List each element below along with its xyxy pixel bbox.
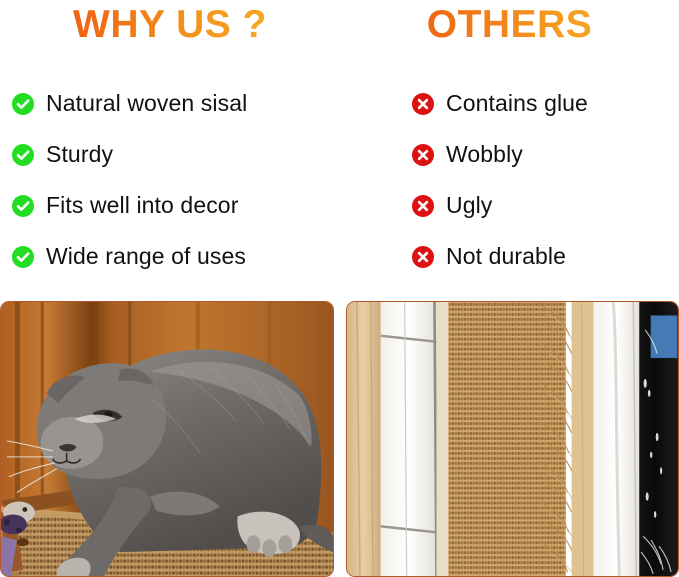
list-item: Contains glue — [412, 78, 679, 129]
cons-list: Contains glue Wobbly Ugly Not durable — [412, 78, 679, 282]
photo-row — [0, 301, 679, 577]
list-item: Natural woven sisal — [12, 78, 342, 129]
list-item-label: Contains glue — [446, 92, 588, 115]
x-circle-icon — [412, 246, 434, 268]
cat-on-sisal-mat-photo — [0, 301, 334, 577]
list-item: Fits well into decor — [12, 180, 342, 231]
check-circle-icon — [12, 246, 34, 268]
list-item-label: Wobbly — [446, 143, 523, 166]
list-item: Not durable — [412, 231, 679, 282]
list-item: Wide range of uses — [12, 231, 342, 282]
pros-title: WHY US ? — [0, 3, 340, 47]
list-item-label: Not durable — [446, 245, 566, 268]
x-circle-icon — [412, 93, 434, 115]
list-item: Wobbly — [412, 129, 679, 180]
check-circle-icon — [12, 195, 34, 217]
x-circle-icon — [412, 144, 434, 166]
list-item: Ugly — [412, 180, 679, 231]
list-item: Sturdy — [12, 129, 342, 180]
list-item-label: Natural woven sisal — [46, 92, 247, 115]
comparison-infographic: WHY US ? OTHERS Natural woven sisal Stur… — [0, 0, 679, 577]
frayed-sisal-mat-photo — [346, 301, 679, 577]
x-circle-icon — [412, 195, 434, 217]
cons-title: OTHERS — [340, 3, 679, 47]
check-circle-icon — [12, 93, 34, 115]
list-item-label: Sturdy — [46, 143, 113, 166]
list-item-label: Ugly — [446, 194, 492, 217]
check-circle-icon — [12, 144, 34, 166]
list-item-label: Fits well into decor — [46, 194, 238, 217]
headings-row: WHY US ? OTHERS — [0, 0, 679, 60]
list-item-label: Wide range of uses — [46, 245, 246, 268]
pros-list: Natural woven sisal Sturdy Fits well int… — [12, 78, 342, 282]
